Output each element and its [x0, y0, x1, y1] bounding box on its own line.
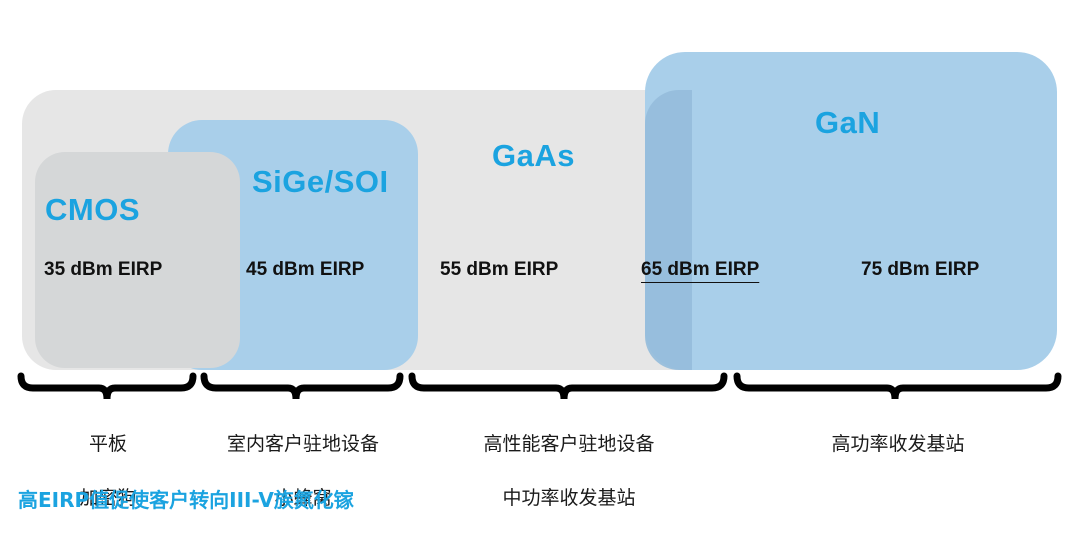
application-label-0-line1: 平板 — [18, 431, 198, 458]
eirp-value-sige-soi: 45 dBm EIRP — [246, 259, 364, 281]
application-label-1: 室内客户驻地设备 小蜂窝 — [200, 404, 406, 539]
block-gan — [645, 52, 1057, 370]
eirp-value-overlap: 65 dBm EIRP — [641, 259, 759, 281]
application-label-0: 平板 加密狗 — [18, 404, 198, 539]
tech-label-gan: GaN — [815, 105, 880, 141]
application-label-2-line1: 高性能客户驻地设备 — [408, 431, 730, 458]
eirp-value-cmos: 35 dBm EIRP — [44, 259, 162, 281]
application-label-2-line2: 中功率收发基站 — [408, 485, 730, 512]
brace-indoor-cpe — [204, 376, 400, 399]
brace-high-perf-cpe — [412, 376, 724, 399]
application-label-1-line1: 室内客户驻地设备 — [200, 431, 406, 458]
application-label-2: 高性能客户驻地设备 中功率收发基站 — [408, 404, 730, 539]
eirp-value-gan: 75 dBm EIRP — [861, 259, 979, 281]
application-label-3: 高功率收发基站 — [733, 404, 1063, 512]
tech-label-sige-soi: SiGe/SOI — [252, 164, 389, 200]
tech-label-gaas: GaAs — [492, 138, 575, 174]
application-label-3-line1: 高功率收发基站 — [733, 431, 1063, 458]
brace-high-power-basestation — [737, 376, 1058, 399]
brace-group — [0, 372, 1080, 404]
tech-label-cmos: CMOS — [45, 192, 140, 228]
eirp-value-gaas: 55 dBm EIRP — [440, 259, 558, 281]
brace-tablet-dongle — [21, 376, 193, 399]
block-gan-gaas-overlap — [645, 90, 692, 370]
diagram-caption: 高EIRP值促使客户转向III-V族氮化镓 — [18, 484, 354, 513]
eirp-technology-diagram: CMOS SiGe/SOI GaAs GaN 35 dBm EIRP 45 dB… — [0, 0, 1080, 522]
